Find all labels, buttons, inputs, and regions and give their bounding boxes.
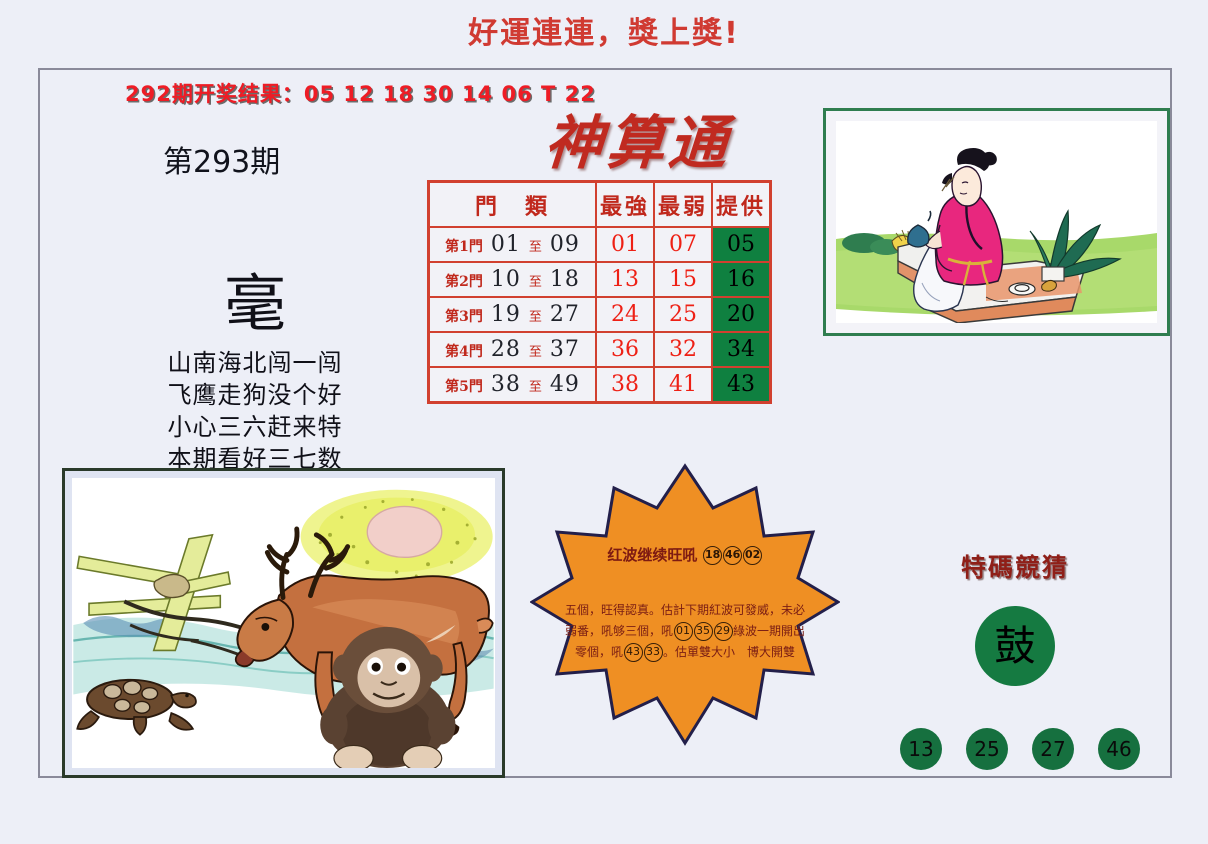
poem-line: 山南海北闯一闯	[140, 348, 370, 380]
cell-range-from: 28	[483, 337, 529, 362]
cell-strongest: 38	[596, 367, 654, 403]
cell-weakest: 25	[654, 297, 712, 332]
cell-provide: 20	[712, 297, 771, 332]
starburst-callout: 红波继续旺吼 184602 五個，旺得認真。估計下期紅波可發威，未必 弱番，吼够…	[530, 462, 840, 747]
cell-range-to: 18	[542, 267, 580, 292]
lottery-ball: 46	[1098, 728, 1140, 770]
cell-provide: 16	[712, 262, 771, 297]
hint-poem: 山南海北闯一闯 飞鹰走狗没个好 小心三六赶来特 本期看好三七数	[140, 348, 370, 476]
cell-men-label: 第2門	[445, 274, 483, 290]
cell-men-label: 第5門	[445, 379, 483, 395]
cell-weakest: 15	[654, 262, 712, 297]
illustration-animals-frame	[62, 468, 505, 778]
top-slogan: 好運連連，獎上獎!	[0, 8, 1208, 52]
cell-category-range: 第1門 01 至 09	[429, 227, 597, 262]
lady-scene-svg	[836, 121, 1157, 323]
cell-men-label: 第3門	[445, 309, 483, 325]
table-header-row: 門 類 最強 最弱 提供	[429, 182, 771, 228]
table-row: 第2門 10 至 18131516	[429, 262, 771, 297]
lottery-poster: 好運連連，獎上獎! 292期开奖结果：05 12 18 30 14 06 T 2…	[0, 0, 1208, 844]
cell-provide: 05	[712, 227, 771, 262]
poem-line: 小心三六赶来特	[140, 412, 370, 444]
cell-range-from: 01	[483, 232, 529, 257]
special-number-character: 鼓	[975, 606, 1055, 686]
poem-line: 飞鹰走狗没个好	[140, 380, 370, 412]
cell-range-to: 37	[542, 337, 580, 362]
table-row: 第1門 01 至 09010705	[429, 227, 771, 262]
cell-range-sep: 至	[529, 275, 542, 290]
starburst-shape	[530, 462, 840, 747]
cell-strongest: 13	[596, 262, 654, 297]
cell-strongest: 36	[596, 332, 654, 367]
lottery-ball: 13	[900, 728, 942, 770]
header-weakest: 最弱	[654, 182, 712, 228]
cell-men-label: 第1門	[445, 239, 483, 255]
cell-range-from: 19	[483, 302, 529, 327]
issue-number: 第293期	[163, 137, 280, 181]
brand-logo: 神算通	[542, 96, 734, 180]
cell-strongest: 24	[596, 297, 654, 332]
cell-strongest: 01	[596, 227, 654, 262]
table-row: 第3門 19 至 27242520	[429, 297, 771, 332]
lottery-ball: 25	[966, 728, 1008, 770]
cell-weakest: 32	[654, 332, 712, 367]
cell-provide: 43	[712, 367, 771, 403]
cell-range-sep: 至	[529, 345, 542, 360]
cell-category-range: 第4門 28 至 37	[429, 332, 597, 367]
cell-range-sep: 至	[529, 380, 542, 395]
header-strongest: 最強	[596, 182, 654, 228]
illustration-lady-frame	[823, 108, 1170, 336]
cell-range-sep: 至	[529, 240, 542, 255]
cell-category-range: 第5門 38 至 49	[429, 367, 597, 403]
cell-weakest: 07	[654, 227, 712, 262]
special-number-title: 特碼競猜	[905, 548, 1125, 584]
cell-range-from: 10	[483, 267, 529, 292]
cell-category-range: 第3門 19 至 27	[429, 297, 597, 332]
cell-range-to: 27	[542, 302, 580, 327]
table-row: 第4門 28 至 37363234	[429, 332, 771, 367]
illustration-animals	[72, 478, 495, 768]
header-provide: 提供	[712, 182, 771, 228]
prediction-table: 門 類 最強 最弱 提供 第1門 01 至 09010705第2門 10 至 1…	[427, 180, 772, 404]
cell-range-from: 38	[483, 372, 529, 397]
cell-range-sep: 至	[529, 310, 542, 325]
cell-range-to: 09	[542, 232, 580, 257]
lottery-ball: 27	[1032, 728, 1074, 770]
cell-provide: 34	[712, 332, 771, 367]
hint-character: 毫	[155, 273, 355, 335]
header-category: 門 類	[429, 182, 597, 228]
cell-weakest: 41	[654, 367, 712, 403]
cell-men-label: 第4門	[445, 344, 483, 360]
special-number-balls: 13 25 27 46	[900, 728, 1140, 770]
previous-draw-results: 292期开奖结果：05 12 18 30 14 06 T 22	[125, 78, 596, 108]
cell-range-to: 49	[542, 372, 580, 397]
illustration-lady	[836, 121, 1157, 323]
cell-category-range: 第2門 10 至 18	[429, 262, 597, 297]
table-row: 第5門 38 至 49384143	[429, 367, 771, 403]
animal-scene-svg	[72, 478, 495, 768]
